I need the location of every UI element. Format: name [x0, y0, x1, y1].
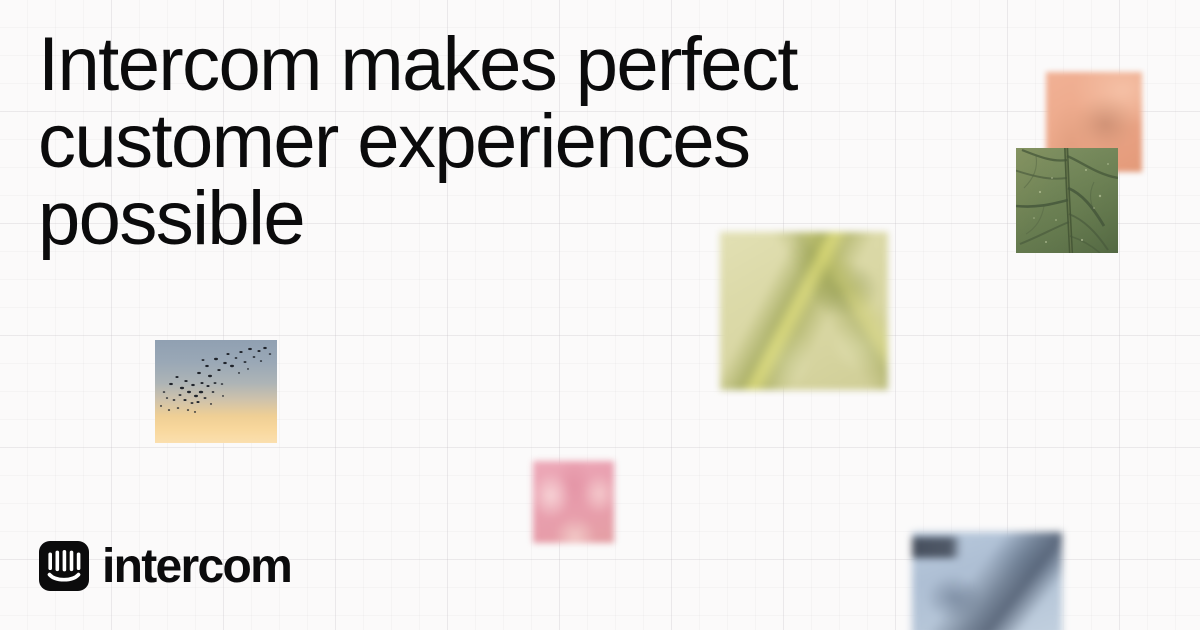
image-birds-at-sunset-photo [155, 340, 277, 443]
intercom-wordmark: intercom [102, 543, 291, 591]
intercom-logo-mark-icon [39, 541, 89, 591]
image-blurred-pink-petals-photo [533, 461, 614, 543]
intercom-logo-lockup: intercom [39, 541, 291, 591]
image-green-leaf-photo [1016, 148, 1118, 253]
og-card: Intercom makes perfect customer experien… [0, 0, 1200, 630]
page-title: Intercom makes perfect customer experien… [38, 26, 818, 257]
leaf-veins-graphic [1016, 148, 1118, 253]
bird-flock-graphic [155, 340, 277, 443]
image-blurred-blue-photo [912, 532, 1062, 630]
